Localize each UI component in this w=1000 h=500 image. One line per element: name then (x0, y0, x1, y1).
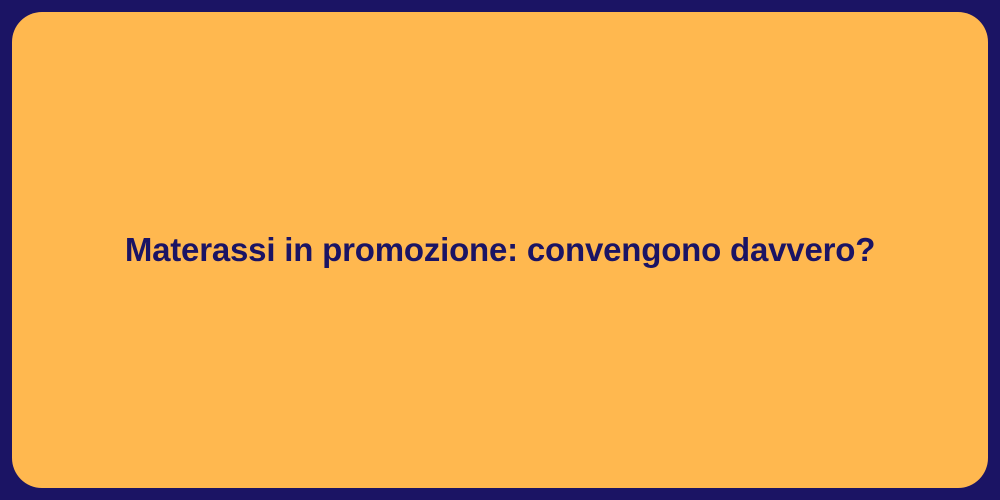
page-frame: Materassi in promozione: convengono davv… (0, 0, 1000, 500)
hero-card: Materassi in promozione: convengono davv… (12, 12, 988, 488)
page-title: Materassi in promozione: convengono davv… (125, 231, 875, 269)
